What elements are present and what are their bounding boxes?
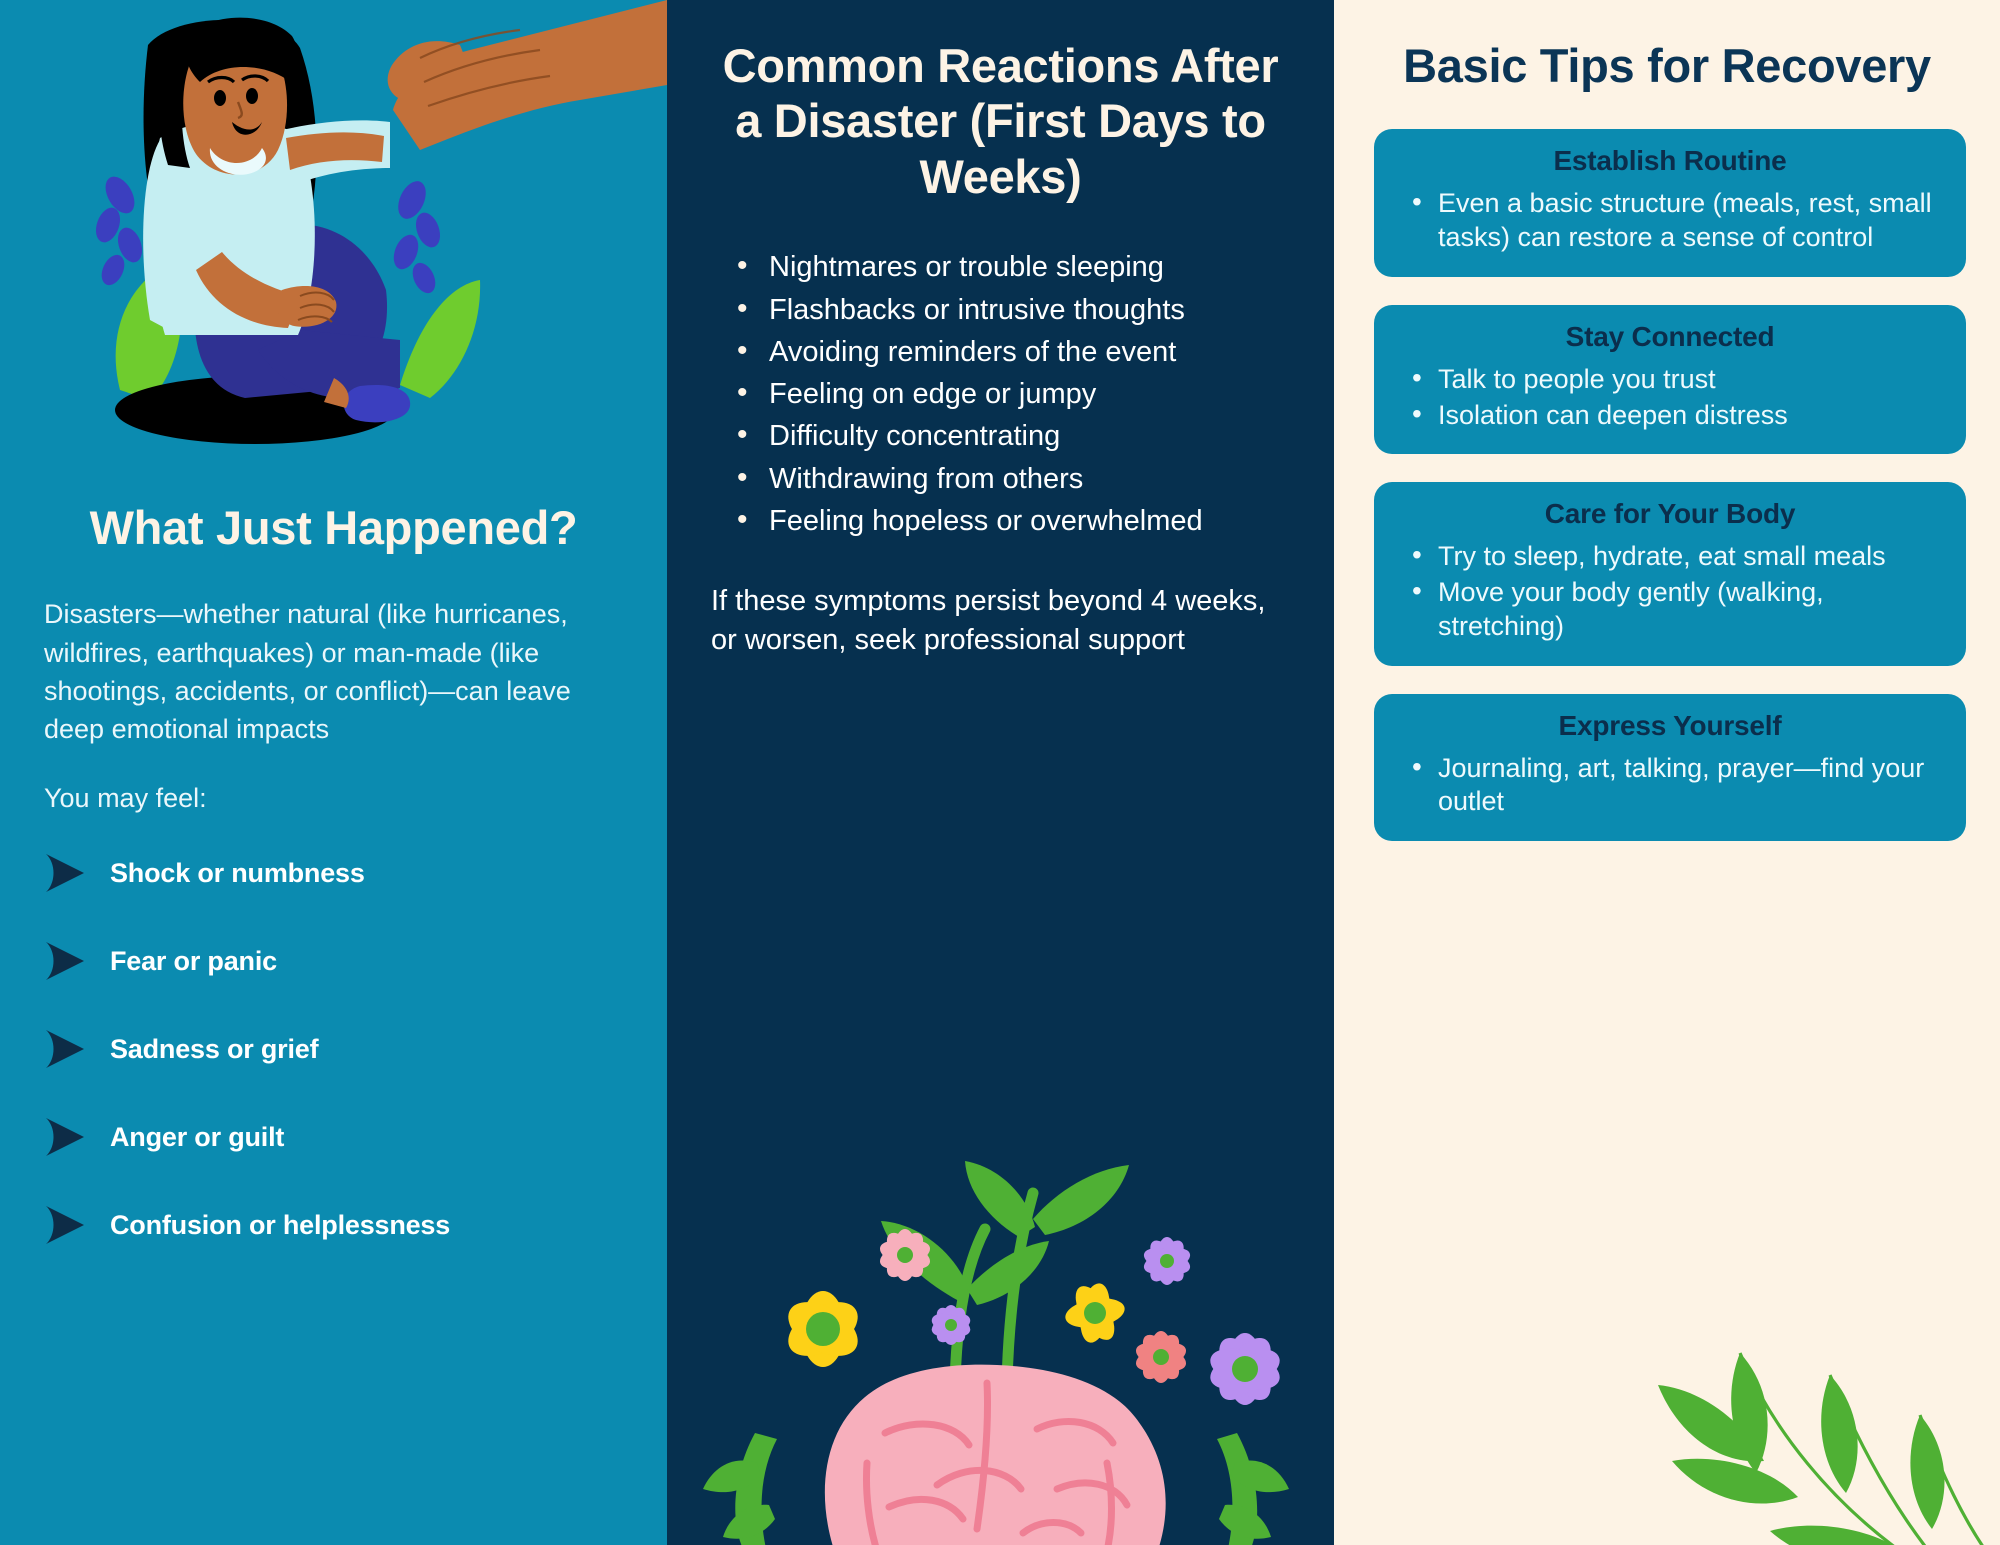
feelings-list: Shock or numbness Fear or panic Sadness … (44, 851, 623, 1247)
tip-card-heading: Stay Connected (1396, 321, 1944, 353)
feeling-label: Fear or panic (110, 946, 277, 977)
seek-support-note: If these symptoms persist beyond 4 weeks… (711, 582, 1290, 660)
flower (1133, 1329, 1190, 1385)
tip-card-items: Journaling, art, talking, prayer—find yo… (1396, 752, 1944, 820)
arrow-right-icon (44, 1203, 86, 1247)
tip-card-heading: Express Yourself (1396, 710, 1944, 742)
list-item: Even a basic structure (meals, rest, sma… (1406, 187, 1944, 255)
list-item: Sadness or grief (44, 1027, 623, 1071)
arrow-right-icon (44, 1027, 86, 1071)
you-may-feel-subheading: You may feel: (44, 779, 623, 817)
tip-card-heading: Establish Routine (1396, 145, 1944, 177)
page-title-what-just-happened: What Just Happened? (44, 500, 623, 555)
arrow-right-icon (44, 939, 86, 983)
list-item: Nightmares or trouble sleeping (733, 248, 1290, 286)
list-item: Isolation can deepen distress (1406, 399, 1944, 433)
tip-card-heading: Care for Your Body (1396, 498, 1944, 530)
tip-card-express-yourself[interactable]: Express Yourself Journaling, art, talkin… (1374, 694, 1966, 842)
feeling-label: Shock or numbness (110, 858, 365, 889)
page-title-common-reactions: Common Reactions After a Disaster (First… (711, 38, 1290, 204)
list-item: Shock or numbness (44, 851, 623, 895)
list-item: Confusion or helplessness (44, 1203, 623, 1247)
list-item: Try to sleep, hydrate, eat small meals (1406, 540, 1944, 574)
tip-card-stay-connected[interactable]: Stay Connected Talk to people you trust … (1374, 305, 1966, 455)
list-item: Feeling on edge or jumpy (733, 375, 1290, 413)
woman-sitting-with-helping-hand-icon (0, 0, 667, 470)
list-item: Journaling, art, talking, prayer—find yo… (1406, 752, 1944, 820)
tip-card-establish-routine[interactable]: Establish Routine Even a basic structure… (1374, 129, 1966, 277)
list-item: Feeling hopeless or overwhelmed (733, 502, 1290, 540)
flower (1141, 1235, 1193, 1287)
flower (1063, 1280, 1127, 1346)
brain-with-flowers-icon (667, 1133, 1334, 1545)
list-item: Move your body gently (walking, stretchi… (1406, 576, 1944, 644)
reactions-list: Nightmares or trouble sleeping Flashback… (711, 248, 1290, 540)
leafy-branch-decoration-icon (1590, 1235, 2000, 1545)
panel-what-just-happened: What Just Happened? Disasters—whether na… (0, 0, 667, 1545)
feeling-label: Anger or guilt (110, 1122, 284, 1153)
feeling-label: Sadness or grief (110, 1034, 318, 1065)
tips-card-list: Establish Routine Even a basic structure… (1374, 129, 1966, 841)
list-item: Fear or panic (44, 939, 623, 983)
disaster-description-paragraph: Disasters—whether natural (like hurrican… (44, 595, 623, 748)
list-item: Difficulty concentrating (733, 417, 1290, 455)
list-item: Flashbacks or intrusive thoughts (733, 291, 1290, 329)
list-item: Avoiding reminders of the event (733, 333, 1290, 371)
list-item: Anger or guilt (44, 1115, 623, 1159)
left-panel-content: What Just Happened? Disasters—whether na… (0, 500, 667, 1291)
feeling-label: Confusion or helplessness (110, 1210, 450, 1241)
mid-panel-content: Common Reactions After a Disaster (First… (667, 0, 1334, 661)
page-title-basic-tips: Basic Tips for Recovery (1374, 38, 1960, 93)
list-item: Talk to people you trust (1406, 363, 1944, 397)
tip-card-items: Even a basic structure (meals, rest, sma… (1396, 187, 1944, 255)
panel-common-reactions: Common Reactions After a Disaster (First… (667, 0, 1334, 1545)
tip-card-items: Talk to people you trust Isolation can d… (1396, 363, 1944, 433)
brochure-page: What Just Happened? Disasters—whether na… (0, 0, 2000, 1545)
flower (1205, 1329, 1285, 1408)
flower (779, 1291, 867, 1367)
arrow-right-icon (44, 1115, 86, 1159)
tip-card-care-for-your-body[interactable]: Care for Your Body Try to sleep, hydrate… (1374, 482, 1966, 665)
arrow-right-icon (44, 851, 86, 895)
tip-card-items: Try to sleep, hydrate, eat small meals M… (1396, 540, 1944, 643)
list-item: Withdrawing from others (733, 460, 1290, 498)
panel-basic-tips: Basic Tips for Recovery Establish Routin… (1334, 0, 2000, 1545)
